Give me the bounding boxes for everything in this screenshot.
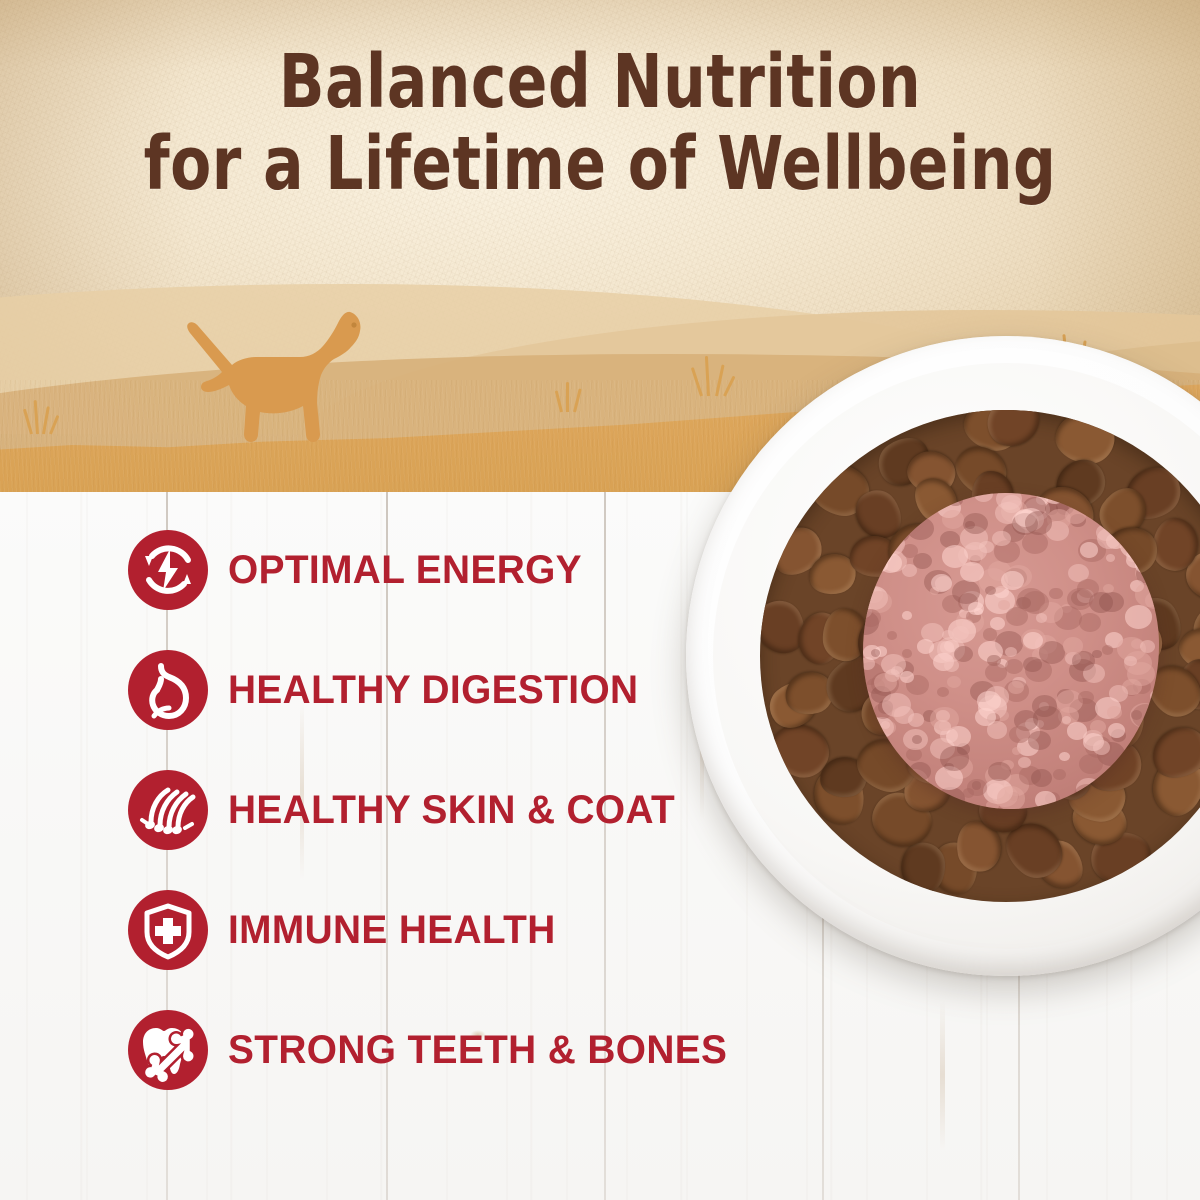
stomach-icon	[128, 650, 208, 730]
pate-lump	[1023, 632, 1043, 649]
pate-lump	[1074, 784, 1100, 806]
feature-row-strong-teeth-bones[interactable]: STRONG TEETH & BONES	[0, 990, 700, 1110]
pate-lump	[882, 693, 911, 718]
pate-lump	[1109, 767, 1133, 787]
pate-lump	[954, 646, 973, 663]
pate-lump	[1132, 704, 1159, 728]
pate-lump	[998, 600, 1009, 610]
pate-lump	[942, 545, 968, 567]
pate-lump	[902, 564, 917, 577]
feature-row-immune-health[interactable]: IMMUNE HEALTH	[0, 870, 700, 990]
pate-lump	[1099, 592, 1123, 613]
feature-label: OPTIMAL ENERGY	[228, 548, 582, 593]
pate-lump	[864, 570, 879, 583]
feature-row-healthy-digestion[interactable]: HEALTHY DIGESTION	[0, 630, 700, 750]
pate-lump	[1031, 769, 1052, 787]
headline-line-2: for a Lifetime of Wellbeing	[60, 130, 1140, 198]
pate-lump	[983, 628, 997, 640]
pate-lump	[1090, 720, 1106, 734]
pate-lump	[1093, 740, 1111, 755]
pate-lump	[937, 687, 949, 698]
pate-lump	[1135, 582, 1159, 606]
feature-label: HEALTHY DIGESTION	[228, 668, 638, 713]
pate-lump	[1078, 691, 1094, 705]
pate-lump	[874, 673, 897, 692]
pate-lump	[931, 793, 945, 805]
dog-food-bowl	[686, 336, 1200, 976]
pate-lump	[992, 531, 1011, 547]
pate-lump	[1150, 690, 1159, 702]
pate-lump	[1049, 588, 1062, 599]
pate-lump	[1018, 757, 1031, 768]
pate-lump	[909, 762, 931, 781]
pate-lump	[968, 602, 983, 615]
pate-lump	[887, 631, 897, 639]
pate-lump	[1079, 754, 1103, 775]
pate-lump	[952, 626, 968, 640]
pate-lump	[1065, 507, 1086, 525]
pate-lump	[1008, 681, 1023, 694]
pate-lump	[1053, 769, 1066, 780]
pate-lump	[1009, 726, 1030, 744]
pate-lump	[1107, 706, 1122, 719]
pate-lump	[1125, 605, 1152, 628]
pate-lump	[944, 659, 959, 672]
pate-mound	[863, 493, 1159, 808]
pate-lump	[1080, 542, 1099, 558]
pate-lump	[1102, 645, 1114, 655]
shield-cross-icon	[128, 890, 208, 970]
feature-row-optimal-energy[interactable]: OPTIMAL ENERGY	[0, 510, 700, 630]
pate-lump	[1028, 731, 1051, 751]
pate-lump	[940, 746, 969, 771]
pate-lump	[1063, 637, 1083, 654]
pate-lump	[1135, 557, 1154, 573]
pate-lump	[977, 691, 1001, 711]
pate-lump	[1059, 752, 1070, 761]
headline-line-1: Balanced Nutrition	[60, 48, 1140, 116]
pate-lump	[1067, 588, 1093, 610]
pate-lump	[1092, 650, 1101, 658]
pate-lump	[1124, 656, 1136, 666]
feature-label: STRONG TEETH & BONES	[228, 1028, 727, 1073]
pate-lump	[942, 510, 964, 529]
pate-lump	[948, 494, 962, 506]
pate-lump	[898, 497, 918, 514]
feature-label: IMMUNE HEALTH	[228, 908, 556, 953]
pate-lump	[997, 786, 1025, 808]
dog-silhouette-icon	[168, 302, 400, 452]
pate-lump	[1022, 532, 1048, 554]
feature-row-healthy-skin-coat[interactable]: HEALTHY SKIN & COAT	[0, 750, 700, 870]
pate-lump	[1023, 657, 1042, 673]
pate-lump	[1108, 723, 1125, 738]
pate-lump	[1096, 524, 1116, 541]
pate-lump	[1106, 554, 1116, 562]
pate-lump	[1035, 791, 1055, 808]
page-title: Balanced Nutrition for a Lifetime of Wel…	[0, 48, 1200, 198]
pate-lump	[963, 788, 974, 797]
pate-lump	[864, 771, 884, 788]
pate-lump	[1067, 722, 1087, 739]
pate-lump	[902, 611, 913, 620]
pate-lump	[985, 663, 1007, 682]
fur-strands-icon	[128, 770, 208, 850]
pate-lump	[902, 649, 912, 658]
wood-streak	[940, 1000, 945, 1150]
pate-lump	[1025, 511, 1052, 534]
pate-lump	[930, 707, 959, 732]
pate-lump	[1140, 640, 1155, 653]
pate-lump	[1136, 800, 1146, 808]
feature-list: OPTIMAL ENERGY HEALTHY DIGESTION	[0, 510, 700, 1110]
pate-lump	[952, 580, 980, 604]
pate-lump	[935, 576, 952, 591]
energy-refresh-icon	[128, 530, 208, 610]
pate-lump	[1005, 659, 1023, 675]
poster: OPTIMAL ENERGY HEALTHY DIGESTION	[0, 0, 1200, 1200]
pate-lump	[1097, 786, 1120, 805]
pate-lump	[1001, 571, 1024, 591]
pate-lump	[912, 714, 924, 724]
pate-lump	[1032, 695, 1058, 717]
pate-lump	[974, 493, 993, 501]
pate-lump	[863, 609, 881, 628]
pate-lump	[1005, 647, 1017, 657]
pate-lump	[907, 517, 934, 540]
pate-lump	[947, 676, 961, 688]
pate-lump	[1062, 716, 1071, 724]
pate-lump	[1079, 613, 1101, 632]
tooth-bone-icon	[128, 1010, 208, 1090]
pate-lump	[912, 735, 922, 744]
feature-label: HEALTHY SKIN & COAT	[228, 788, 675, 833]
